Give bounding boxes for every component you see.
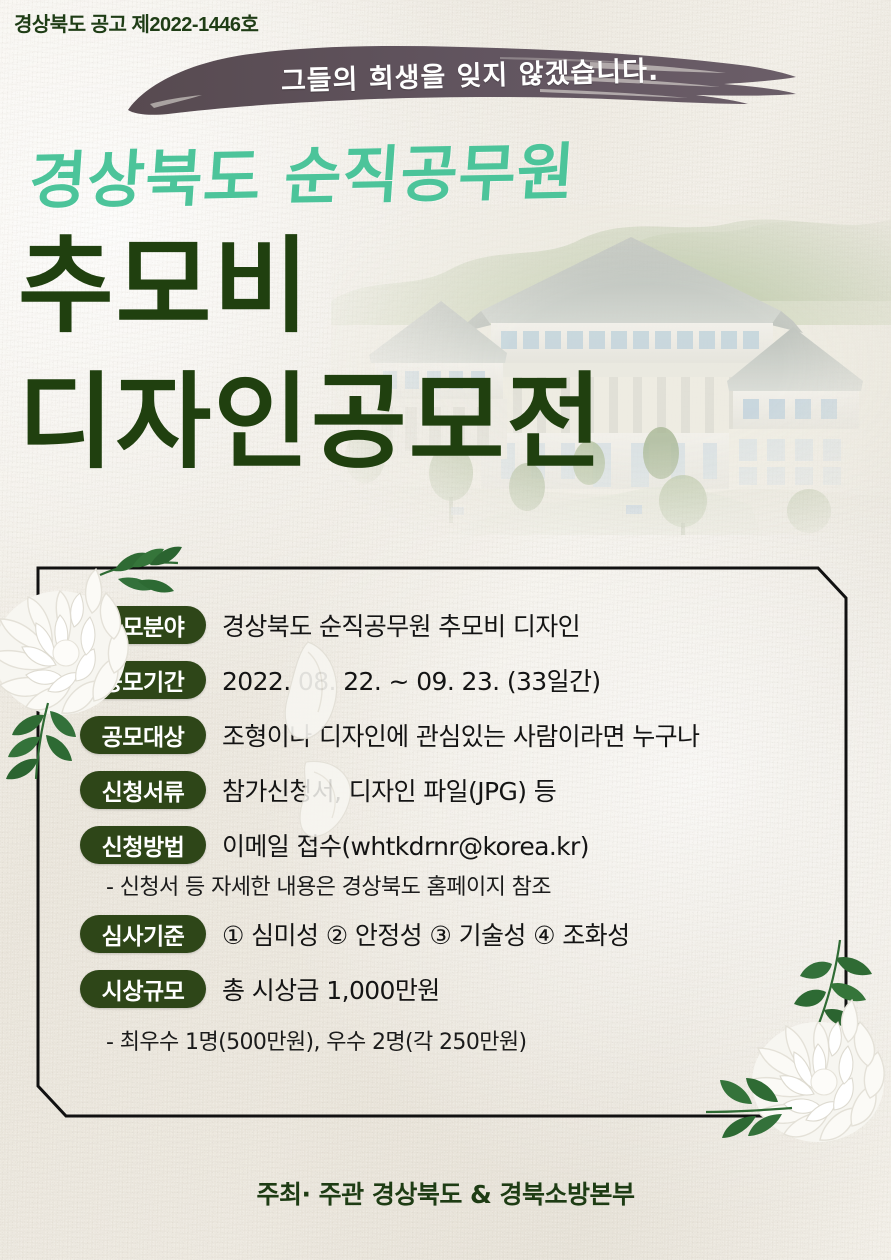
info-row-criteria: 심사기준 ① 심미성 ② 안정성 ③ 기술성 ④ 조화성 <box>80 907 820 961</box>
info-row-method: 신청방법 이메일 접수(whtkdrnr@korea.kr) <box>80 818 820 872</box>
info-label-prizes: 시상규모 <box>80 970 206 1008</box>
poster-title-line1: 추모비 <box>18 234 311 338</box>
brush-stroke-icon: 그들의 희생을 잊지 않겠습니다. <box>120 40 820 118</box>
info-note-award: - 최우수 1명(500만원), 우수 2명(각 250만원) <box>106 1024 820 1056</box>
info-label-period: 공모기간 <box>80 661 206 699</box>
poster-title-line2: 디자인공모전 <box>18 370 604 474</box>
info-value-method: 이메일 접수(whtkdrnr@korea.kr) <box>222 827 589 863</box>
info-note-application: - 신청서 등 자세한 내용은 경상북도 홈페이지 참조 <box>106 869 820 901</box>
info-value-eligibility: 조형이나 디자인에 관심있는 사람이라면 누구나 <box>222 717 699 753</box>
info-value-field: 경상북도 순직공무원 추모비 디자인 <box>222 607 580 643</box>
info-value-documents: 참가신청서, 디자인 파일(JPG) 등 <box>222 772 556 808</box>
info-box: 공모분야 경상북도 순직공무원 추모비 디자인 공모기간 2022. 08. 2… <box>36 566 848 1118</box>
info-row-period: 공모기간 2022. 08. 22. ~ 09. 23. (33일간) <box>80 653 820 707</box>
info-rows: 공모분야 경상북도 순직공무원 추모비 디자인 공모기간 2022. 08. 2… <box>80 598 820 1062</box>
info-row-prizes: 시상규모 총 시상금 1,000만원 <box>80 962 820 1016</box>
poster-subtitle: 경상북도 순직공무원 <box>26 121 578 220</box>
info-label-field: 공모분야 <box>80 606 206 644</box>
info-row-eligibility: 공모대상 조형이나 디자인에 관심있는 사람이라면 누구나 <box>80 708 820 762</box>
info-row-documents: 신청서류 참가신청서, 디자인 파일(JPG) 등 <box>80 763 820 817</box>
info-row-field: 공모분야 경상북도 순직공무원 추모비 디자인 <box>80 598 820 652</box>
info-value-period: 2022. 08. 22. ~ 09. 23. (33일간) <box>222 662 601 698</box>
info-label-eligibility: 공모대상 <box>80 716 206 754</box>
info-value-criteria: ① 심미성 ② 안정성 ③ 기술성 ④ 조화성 <box>222 916 629 952</box>
poster-root: 경상북도 공고 제2022-1446호 그들의 희 <box>0 0 891 1260</box>
footer-organizers: 주최· 주관 경상북도 & 경북소방본부 <box>0 1175 891 1211</box>
notice-number: 경상북도 공고 제2022-1446호 <box>14 8 258 37</box>
info-value-prizes: 총 시상금 1,000만원 <box>222 971 440 1007</box>
info-label-criteria: 심사기준 <box>80 915 206 953</box>
info-label-documents: 신청서류 <box>80 771 206 809</box>
info-label-method: 신청방법 <box>80 826 206 864</box>
